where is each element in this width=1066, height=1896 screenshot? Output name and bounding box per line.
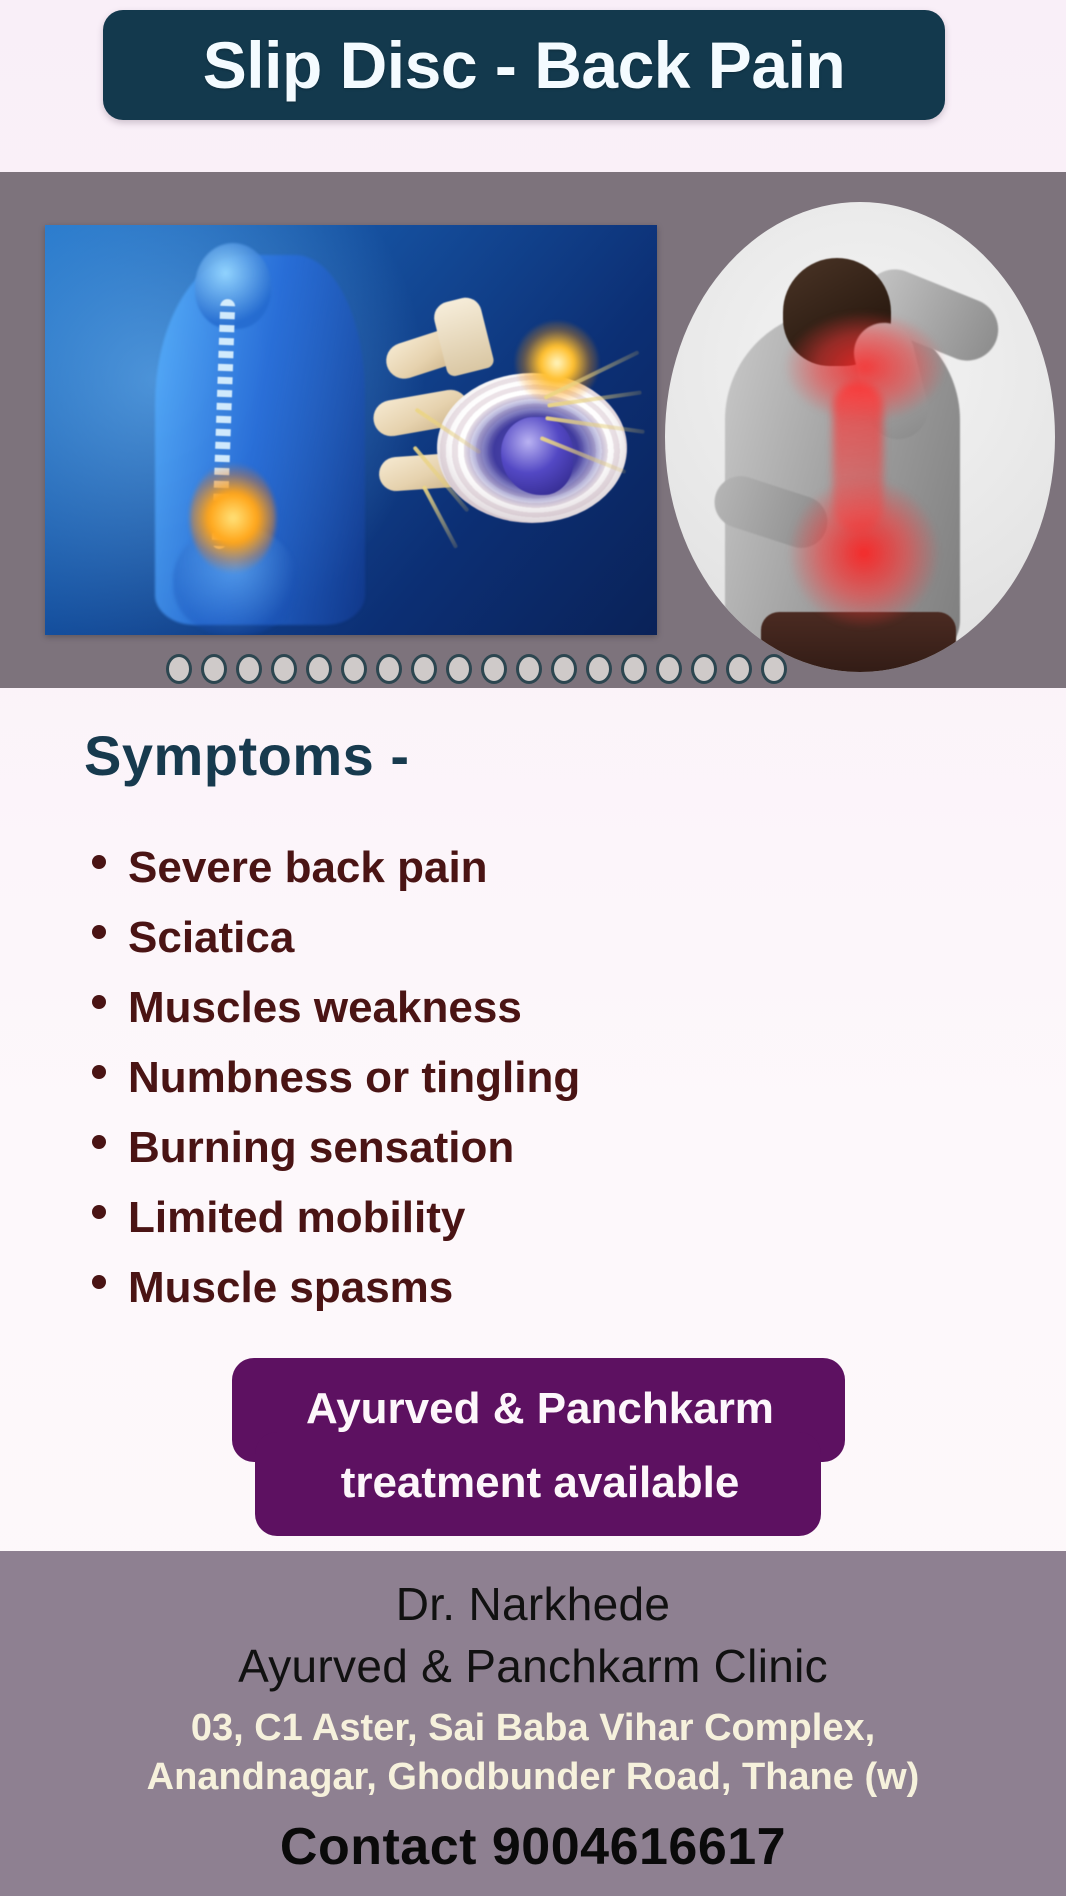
- bullet-icon: [92, 1275, 106, 1289]
- spine-anatomy-image: [45, 225, 657, 635]
- carousel-dot: [306, 654, 332, 684]
- symptom-item: Severe back pain: [92, 833, 912, 903]
- bullet-icon: [92, 1065, 106, 1079]
- back-pain-photo: [665, 202, 1055, 672]
- symptom-item: Sciatica: [92, 903, 912, 973]
- lumbar-pain-glow: [190, 463, 276, 573]
- carousel-dot: [656, 654, 682, 684]
- carousel-dot: [516, 654, 542, 684]
- symptom-item: Muscles weakness: [92, 973, 912, 1043]
- bullet-icon: [92, 925, 106, 939]
- contact-phone: Contact 9004616617: [0, 1817, 1066, 1877]
- symptom-item-label: Sciatica: [128, 903, 294, 973]
- carousel-dot: [446, 654, 472, 684]
- slip-disc-poster: Slip Disc - Back Pain: [0, 0, 1066, 1896]
- symptom-item-label: Severe back pain: [128, 833, 488, 903]
- symptom-item-label: Muscles weakness: [128, 973, 522, 1043]
- media-band: [0, 172, 1066, 688]
- symptom-item: Numbness or tingling: [92, 1043, 912, 1113]
- carousel-dot: [621, 654, 647, 684]
- carousel-dot: [411, 654, 437, 684]
- page-title: Slip Disc - Back Pain: [203, 32, 845, 98]
- clinic-footer: Dr. Narkhede Ayurved & Panchkarm Clinic …: [0, 1551, 1066, 1896]
- bullet-icon: [92, 855, 106, 869]
- carousel-dot: [376, 654, 402, 684]
- carousel-dot: [761, 654, 787, 684]
- symptoms-list: Severe back painSciaticaMuscles weakness…: [92, 833, 912, 1323]
- symptom-item-label: Numbness or tingling: [128, 1043, 580, 1113]
- badge-line-1: Ayurved & Panchkarm: [232, 1384, 848, 1434]
- vertebra-disc-illustration: [365, 277, 645, 607]
- symptom-item-label: Limited mobility: [128, 1183, 465, 1253]
- bullet-icon: [92, 995, 106, 1009]
- poster-title-bar: Slip Disc - Back Pain: [103, 10, 945, 120]
- treatment-badge: Ayurved & Panchkarm treatment available: [232, 1358, 848, 1536]
- clinic-name: Ayurved & Panchkarm Clinic: [0, 1639, 1066, 1693]
- carousel-dot: [341, 654, 367, 684]
- address-line-1: 03, C1 Aster, Sai Baba Vihar Complex,: [0, 1707, 1066, 1750]
- carousel-dot: [481, 654, 507, 684]
- address-line-2: Anandnagar, Ghodbunder Road, Thane (w): [0, 1756, 1066, 1799]
- decorative-dots-strip: [0, 650, 1066, 688]
- symptom-item-label: Muscle spasms: [128, 1253, 453, 1323]
- symptom-item-label: Burning sensation: [128, 1113, 514, 1183]
- media-inner: [0, 172, 1066, 688]
- doctor-name: Dr. Narkhede: [0, 1577, 1066, 1631]
- carousel-dot: [201, 654, 227, 684]
- carousel-dot: [166, 654, 192, 684]
- bullet-icon: [92, 1135, 106, 1149]
- badge-line-2: treatment available: [232, 1458, 848, 1508]
- symptom-item: Limited mobility: [92, 1183, 912, 1253]
- neck-pain-highlight: [785, 312, 945, 422]
- symptoms-heading: Symptoms -: [84, 723, 410, 788]
- carousel-dot: [691, 654, 717, 684]
- lower-back-pain-highlight: [789, 478, 939, 628]
- symptom-item: Muscle spasms: [92, 1253, 912, 1323]
- carousel-dot: [236, 654, 262, 684]
- carousel-dot: [551, 654, 577, 684]
- bullet-icon: [92, 1205, 106, 1219]
- carousel-dot: [726, 654, 752, 684]
- carousel-dot: [586, 654, 612, 684]
- symptom-item: Burning sensation: [92, 1113, 912, 1183]
- carousel-dot: [271, 654, 297, 684]
